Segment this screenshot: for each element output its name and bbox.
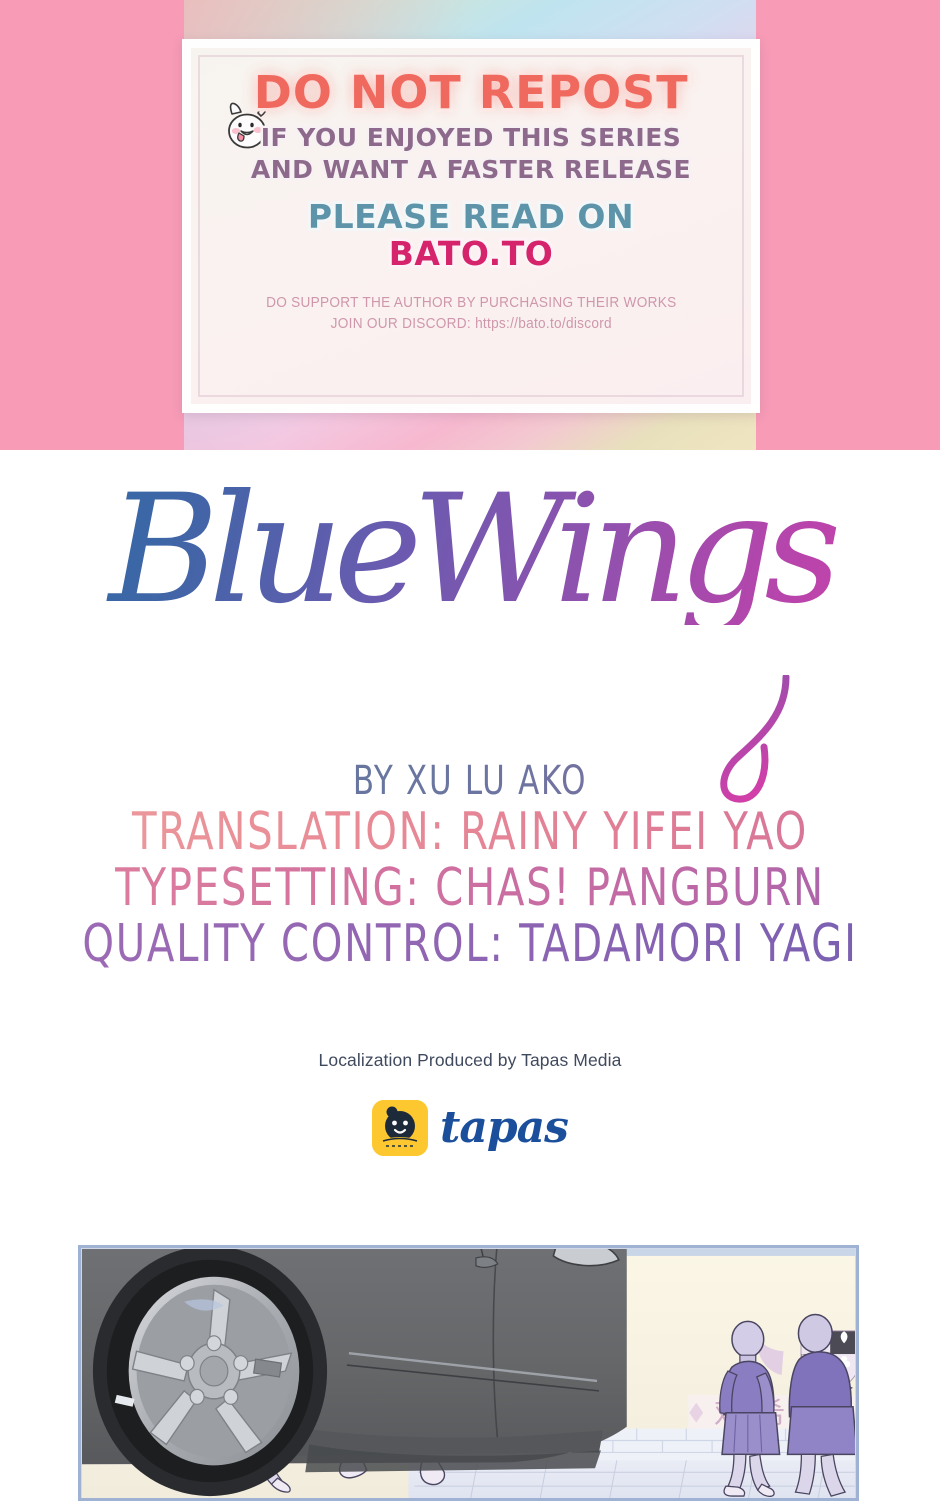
tapas-logo[interactable]: tapas — [0, 1100, 940, 1156]
credit-typesetting: TYPESETTING: CHAS! PANGBURN — [66, 858, 874, 918]
comic-panel-artwork: 欢 希 里 — [81, 1248, 856, 1501]
do-not-repost-banner: DO NOT REPOST IF YOU ENJOYED THIS SERIES… — [0, 0, 940, 450]
comic-panel: 欢 希 里 — [78, 1245, 859, 1501]
car-foreground — [81, 1248, 627, 1496]
banner-plaque: DO NOT REPOST IF YOU ENJOYED THIS SERIES… — [182, 39, 760, 413]
banner-footer-line-1: DO SUPPORT THE AUTHOR BY PURCHASING THEI… — [266, 293, 676, 314]
title-and-credits-region: BlueWings BY XU LU AKO TRANSLATION: RAIN… — [0, 450, 940, 1240]
credit-quality-control: QUALITY CONTROL: TADAMORI YAGI — [66, 914, 874, 974]
credit-author: BY XU LU AKO — [66, 758, 874, 804]
comic-panel-region: 欢 希 里 — [0, 1240, 940, 1505]
localization-note: Localization Produced by Tapas Media — [0, 1050, 940, 1071]
banner-footer-line-2[interactable]: JOIN OUR DISCORD: https://bato.to/discor… — [266, 314, 676, 335]
banner-headline: DO NOT REPOST — [254, 70, 689, 115]
tapas-bear-icon — [372, 1100, 428, 1156]
banner-read-on: PLEASE READ ON — [308, 200, 634, 235]
banner-sub-line-1: IF YOU ENJOYED THIS SERIES — [261, 123, 682, 153]
credit-translation: TRANSLATION: RAINY YIFEI YAO — [66, 802, 874, 862]
banner-sub-line-2: AND WANT A FASTER RELEASE — [251, 155, 691, 185]
series-title: BlueWings — [0, 475, 940, 625]
tapas-wordmark: tapas — [440, 1106, 568, 1150]
banner-site-name[interactable]: BATO.TO — [389, 237, 554, 272]
